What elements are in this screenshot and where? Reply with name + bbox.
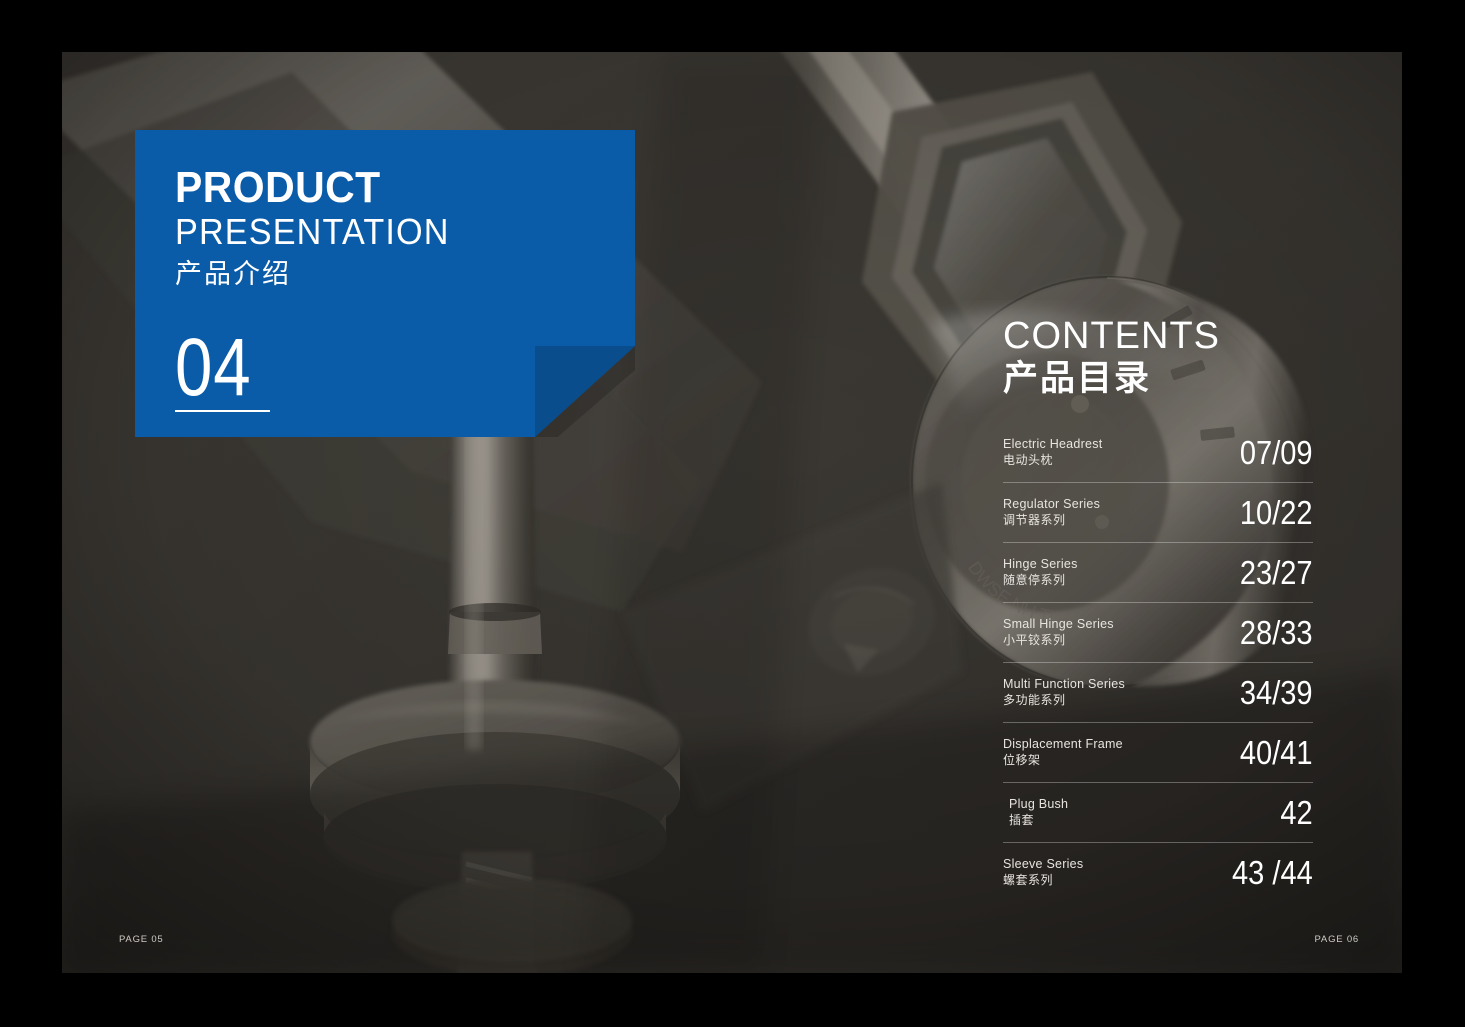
contents-row[interactable]: Sleeve Series 螺套系列 43 /44 — [1003, 843, 1313, 902]
screenshot-root: DWSE NH TING — [0, 0, 1465, 1027]
contents-row-label-cn: 多功能系列 — [1003, 693, 1125, 709]
contents-row-pages: 40/41 — [1240, 734, 1313, 772]
section-number-group: 04 — [175, 330, 270, 411]
panel-title-en-light: PRESENTATION — [175, 210, 450, 254]
contents-row[interactable]: Regulator Series 调节器系列 10/22 — [1003, 483, 1313, 543]
contents-row[interactable]: Multi Function Series 多功能系列 34/39 — [1003, 663, 1313, 723]
contents-row-label-en: Small Hinge Series — [1003, 617, 1114, 633]
section-number: 04 — [175, 330, 253, 405]
contents-title-en: CONTENTS — [1003, 317, 1313, 357]
contents-row-label-cn: 位移架 — [1003, 753, 1123, 769]
contents-row-pages: 23/27 — [1240, 554, 1313, 592]
contents-row-labels: Electric Headrest 电动头枕 — [1003, 437, 1102, 469]
contents-row[interactable]: Plug Bush 插套 42 — [1003, 783, 1313, 843]
page-footer-left: PAGE 05 — [119, 934, 164, 945]
contents-row-pages: 42 — [1281, 794, 1313, 832]
contents-row-pages: 34/39 — [1240, 674, 1313, 712]
contents-row-labels: Sleeve Series 螺套系列 — [1003, 857, 1083, 889]
contents-row-pages: 07/09 — [1240, 434, 1313, 472]
panel-title-en-bold: PRODUCT — [175, 166, 444, 210]
contents-block: CONTENTS 产品目录 Electric Headrest 电动头枕 07/… — [1003, 317, 1313, 902]
contents-row-pages: 43 /44 — [1232, 854, 1313, 892]
contents-row-pages: 10/22 — [1240, 494, 1313, 532]
panel-text-block: PRODUCT PRESENTATION 产品介绍 04 — [175, 166, 464, 412]
contents-row-pages: 28/33 — [1240, 614, 1313, 652]
panel-title-cn: 产品介绍 — [175, 256, 464, 292]
section-title-panel: PRODUCT PRESENTATION 产品介绍 04 — [135, 130, 635, 437]
contents-title-cn: 产品目录 — [1003, 358, 1313, 399]
contents-row-label-cn: 调节器系列 — [1003, 513, 1100, 529]
contents-row-label-en: Electric Headrest — [1003, 437, 1102, 453]
contents-row-labels: Hinge Series 随意停系列 — [1003, 557, 1078, 589]
contents-row-labels: Small Hinge Series 小平铰系列 — [1003, 617, 1114, 649]
contents-row-label-cn: 电动头枕 — [1003, 453, 1102, 469]
contents-row-labels: Regulator Series 调节器系列 — [1003, 497, 1100, 529]
contents-row-label-en: Multi Function Series — [1003, 677, 1125, 693]
contents-row-label-cn: 小平铰系列 — [1003, 633, 1114, 649]
page-footer-right: PAGE 06 — [1315, 934, 1360, 945]
contents-row-label-cn: 插套 — [1009, 813, 1068, 829]
contents-row-label-en: Displacement Frame — [1003, 737, 1123, 753]
contents-list: Electric Headrest 电动头枕 07/09 Regulator S… — [1003, 423, 1313, 902]
contents-row-label-cn: 螺套系列 — [1003, 873, 1083, 889]
contents-row-label-en: Hinge Series — [1003, 557, 1078, 573]
brochure-spread: DWSE NH TING — [62, 52, 1402, 973]
contents-row[interactable]: Electric Headrest 电动头枕 07/09 — [1003, 423, 1313, 483]
contents-row[interactable]: Small Hinge Series 小平铰系列 28/33 — [1003, 603, 1313, 663]
contents-row-label-en: Plug Bush — [1009, 797, 1068, 813]
contents-row-labels: Plug Bush 插套 — [1003, 797, 1068, 829]
contents-row-labels: Displacement Frame 位移架 — [1003, 737, 1123, 769]
contents-row-label-en: Sleeve Series — [1003, 857, 1083, 873]
contents-row-label-cn: 随意停系列 — [1003, 573, 1078, 589]
contents-row[interactable]: Hinge Series 随意停系列 23/27 — [1003, 543, 1313, 603]
contents-row[interactable]: Displacement Frame 位移架 40/41 — [1003, 723, 1313, 783]
contents-row-labels: Multi Function Series 多功能系列 — [1003, 677, 1125, 709]
contents-row-label-en: Regulator Series — [1003, 497, 1100, 513]
